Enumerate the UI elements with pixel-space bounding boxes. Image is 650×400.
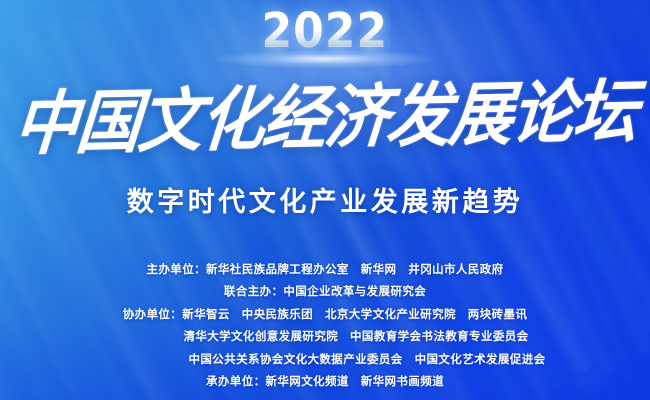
organizer-value: 中国企业改革与发展研究会 (283, 284, 426, 298)
poster-content: 2022 中国文化经济发展论坛 数字时代文化产业发展新趋势 主办单位：新华社民族… (0, 0, 650, 400)
year-text: 2022 (262, 7, 389, 55)
year-block: 2022 (0, 7, 650, 55)
organizer-value: 中国公共关系协会文化大数据产业委员会 中国文化艺术发展促进会 (189, 352, 546, 366)
organizer-label: 联合主办： (224, 284, 284, 298)
organizer-value: 清华大学文化创意发展研究院 中国教育学会书法教育专业委员会 (183, 329, 528, 343)
organizer-value: 新华社民族品牌工程办公室 新华网 井冈山市人民政府 (206, 262, 504, 276)
subtitle-text: 数字时代文化产业发展新趋势 (127, 180, 524, 219)
organizer-value: 新华网文化频道 新华网书画频道 (266, 374, 445, 388)
subtitle-block: 数字时代文化产业发展新趋势 (0, 180, 650, 219)
organizer-line: 联合主办：中国企业改革与发展研究会 (0, 280, 650, 302)
organizer-line: 中国公共关系协会文化大数据产业委员会 中国文化艺术发展促进会 (0, 348, 650, 370)
organizer-list: 主办单位：新华社民族品牌工程办公室 新华网 井冈山市人民政府 联合主办：中国企业… (0, 258, 650, 392)
main-title-block: 中国文化经济发展论坛 (0, 76, 650, 162)
event-poster: 2022 中国文化经济发展论坛 数字时代文化产业发展新趋势 主办单位：新华社民族… (0, 0, 650, 400)
organizer-label: 协办单位： (123, 307, 183, 321)
organizer-value: 新华智云 中央民族乐团 北京大学文化产业研究院 两块砖墨讯 (182, 307, 527, 321)
organizer-line: 主办单位：新华社民族品牌工程办公室 新华网 井冈山市人民政府 (0, 258, 650, 280)
organizer-label: 主办单位： (147, 262, 207, 276)
organizer-label: 承办单位： (206, 374, 266, 388)
organizer-line: 承办单位：新华网文化频道 新华网书画频道 (0, 370, 650, 392)
page-title: 中国文化经济发展论坛 (10, 66, 639, 172)
organizer-line: 清华大学文化创意发展研究院 中国教育学会书法教育专业委员会 (0, 325, 650, 347)
organizer-line: 协办单位：新华智云 中央民族乐团 北京大学文化产业研究院 两块砖墨讯 (0, 303, 650, 325)
